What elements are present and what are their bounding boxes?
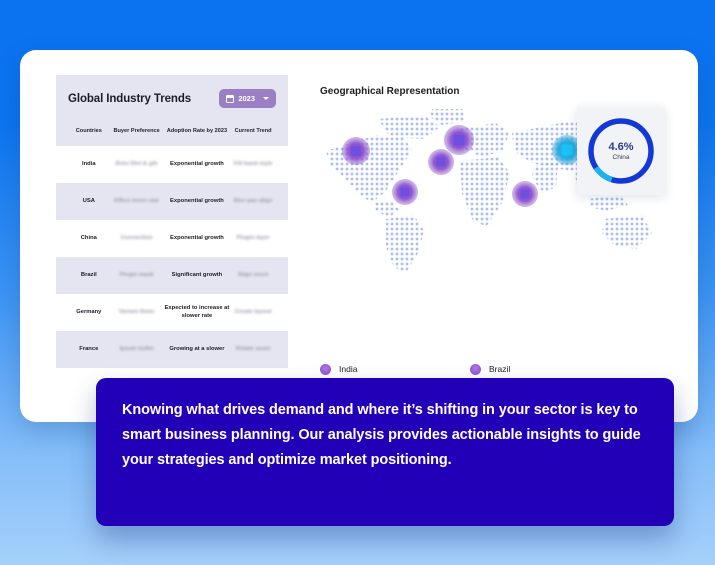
- cell-buyer-preference: Effect move star: [110, 198, 164, 206]
- year-filter-label: 2023: [238, 94, 255, 103]
- dashboard-card: Global Industry Trends 2023 Countries Bu…: [20, 50, 698, 422]
- column-header-current-trend: Current Trend: [230, 128, 276, 134]
- bubble-core: [454, 135, 465, 146]
- table-row[interactable]: Germany Variant flows Expected to increa…: [56, 294, 288, 331]
- gauge-label: China: [613, 154, 630, 161]
- bubble-core: [351, 146, 361, 156]
- legend-label: Brazil: [489, 364, 510, 374]
- cell-adoption-rate: Exponential growth: [164, 198, 231, 206]
- cell-current-trend: Plugin layer: [230, 235, 276, 243]
- calendar-icon: [226, 95, 234, 103]
- table-row[interactable]: France Ipsum bullet Growing at a slower …: [56, 331, 288, 368]
- chevron-down-icon: [263, 97, 269, 100]
- bubble-core: [562, 145, 573, 156]
- table-row[interactable]: USA Effect move star Exponential growth …: [56, 183, 288, 220]
- cell-country: Germany: [68, 309, 110, 317]
- cell-adoption-rate: Exponential growth: [164, 235, 231, 243]
- column-header-buyer-preference: Buyer Preference: [110, 128, 164, 134]
- column-header-countries: Countries: [68, 128, 110, 134]
- table-row[interactable]: Brazil Plugin mask Significant growth Al…: [56, 257, 288, 294]
- cell-country: USA: [68, 198, 110, 206]
- cell-adoption-rate: Significant growth: [164, 272, 231, 280]
- cell-country: France: [68, 346, 110, 354]
- legend-item-india[interactable]: India: [320, 358, 470, 380]
- cell-country: China: [68, 235, 110, 243]
- cell-adoption-rate: Exponential growth: [164, 161, 231, 169]
- table-column-headers: Countries Buyer Preference Adoption Rate…: [68, 124, 276, 146]
- cell-adoption-rate: Expected to increase at slower rate: [164, 305, 231, 321]
- bubble-core: [520, 189, 529, 198]
- cell-buyer-preference: Connection: [110, 235, 164, 243]
- page-title: Global Industry Trends: [68, 93, 191, 105]
- cell-country: India: [68, 161, 110, 169]
- legend-item-brazil[interactable]: Brazil: [470, 358, 620, 380]
- legend-dot-icon: [470, 364, 481, 375]
- bubble-core: [436, 157, 445, 166]
- table-row[interactable]: India Roto Diet & gth Exponential growth…: [56, 146, 288, 183]
- industry-trends-panel: Global Industry Trends 2023 Countries Bu…: [56, 75, 288, 368]
- cell-current-trend: Fill hand style: [230, 161, 276, 169]
- bubble-core: [400, 187, 409, 196]
- cell-adoption-rate: Growing at a slower: [164, 346, 231, 354]
- cell-current-trend: Rotate asset: [230, 346, 276, 354]
- cell-country: Brazil: [68, 272, 110, 280]
- table-row[interactable]: China Connection Exponential growth Plug…: [56, 220, 288, 257]
- cell-buyer-preference: Ipsum bullet: [110, 346, 164, 354]
- bubble-africa[interactable]: [428, 149, 454, 175]
- legend-dot-icon: [320, 364, 331, 375]
- cell-buyer-preference: Roto Diet & gth: [110, 161, 164, 169]
- callout-text: Knowing what drives demand and where it’…: [122, 398, 648, 473]
- cell-current-trend: Blur pan align: [230, 198, 276, 206]
- cell-buyer-preference: Plugin mask: [110, 272, 164, 280]
- map-title: Geographical Representation: [320, 86, 670, 97]
- gauge-value: 4.6%: [608, 141, 633, 153]
- china-gauge-card[interactable]: 4.6% China: [577, 107, 665, 195]
- insight-callout: Knowing what drives demand and where it’…: [96, 378, 674, 526]
- legend-label: India: [339, 364, 357, 374]
- column-header-adoption-rate: Adoption Rate by 2023: [164, 128, 231, 134]
- bubble-oceania[interactable]: [512, 181, 538, 207]
- cell-current-trend: Create layout: [230, 309, 276, 317]
- bubble-south-america[interactable]: [392, 179, 418, 205]
- cell-buyer-preference: Variant flows: [110, 309, 164, 317]
- table-header-block: Global Industry Trends 2023 Countries Bu…: [56, 75, 288, 146]
- world-map[interactable]: 4.6% China: [320, 107, 670, 282]
- geographical-representation-panel: Geographical Representation: [320, 86, 670, 282]
- year-filter-button[interactable]: 2023: [219, 89, 276, 108]
- cell-current-trend: Align move: [230, 272, 276, 280]
- bubble-north-america[interactable]: [342, 137, 370, 165]
